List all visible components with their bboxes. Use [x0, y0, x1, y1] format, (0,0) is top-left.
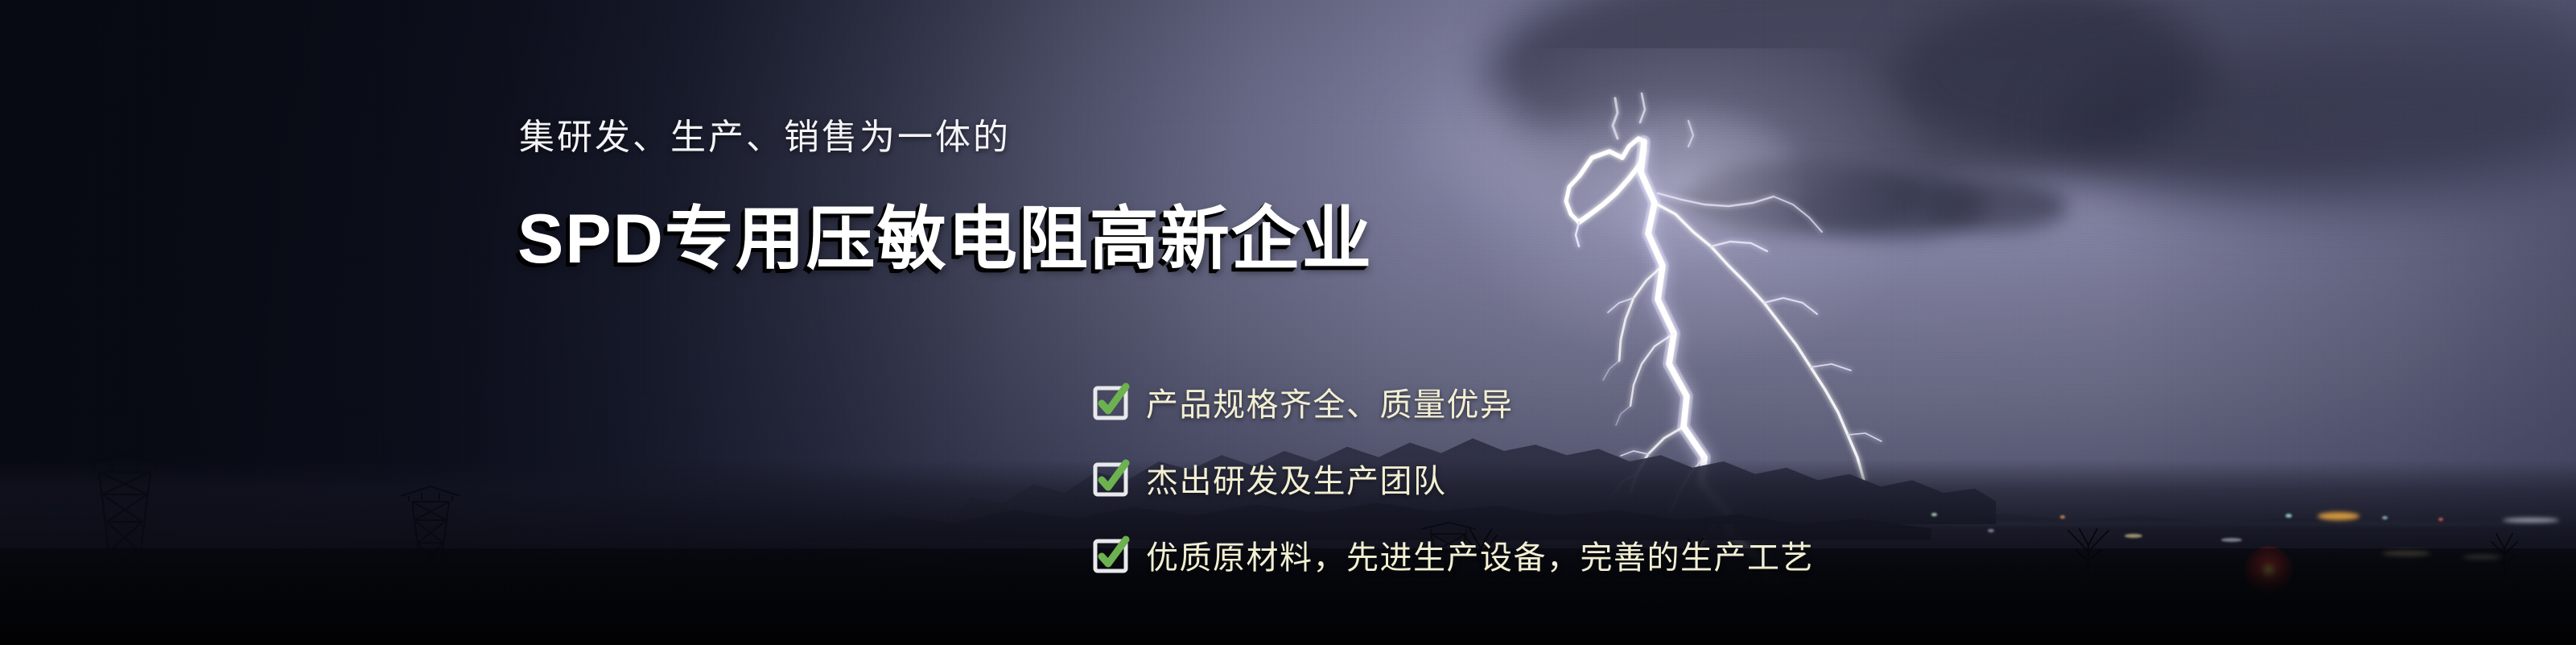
list-item-label: 产品规格齐全、质量优异: [1146, 378, 1514, 425]
hero-banner: 集研发、生产、销售为一体的 SPD专用压敏电阻高新企业 产品规格齐全、质量优异 …: [0, 0, 2576, 645]
checkbox-checked-icon: [1093, 384, 1128, 420]
checkbox-checked-icon: [1093, 461, 1128, 496]
distant-light: [2060, 515, 2065, 519]
checkbox-checked-icon: [1093, 537, 1128, 573]
banner-headline: SPD专用压敏电阻高新企业: [517, 182, 1373, 283]
list-item: 优质原材料，先进生产设备，完善的生产工艺: [1093, 531, 1814, 578]
feature-list: 产品规格齐全、质量优异 杰出研发及生产团队 优质原材料，先进生产设备，完善的生产…: [1093, 378, 1814, 578]
banner-subtitle: 集研发、生产、销售为一体的: [519, 108, 1011, 159]
distant-light: [2125, 534, 2142, 538]
list-item: 产品规格齐全、质量优异: [1093, 378, 1814, 425]
distant-light: [2221, 538, 2242, 542]
distant-light-cluster: [2318, 512, 2360, 520]
distant-light-cluster: [2503, 518, 2559, 523]
list-item-label: 优质原材料，先进生产设备，完善的生产工艺: [1146, 531, 1814, 578]
distant-light: [2438, 518, 2443, 521]
distant-light: [1988, 529, 1994, 532]
distant-light: [2285, 514, 2292, 518]
distant-light: [1931, 513, 1937, 516]
distant-light: [2382, 516, 2388, 519]
list-item-label: 杰出研发及生产团队: [1146, 455, 1447, 502]
list-item: 杰出研发及生产团队: [1093, 455, 1814, 502]
